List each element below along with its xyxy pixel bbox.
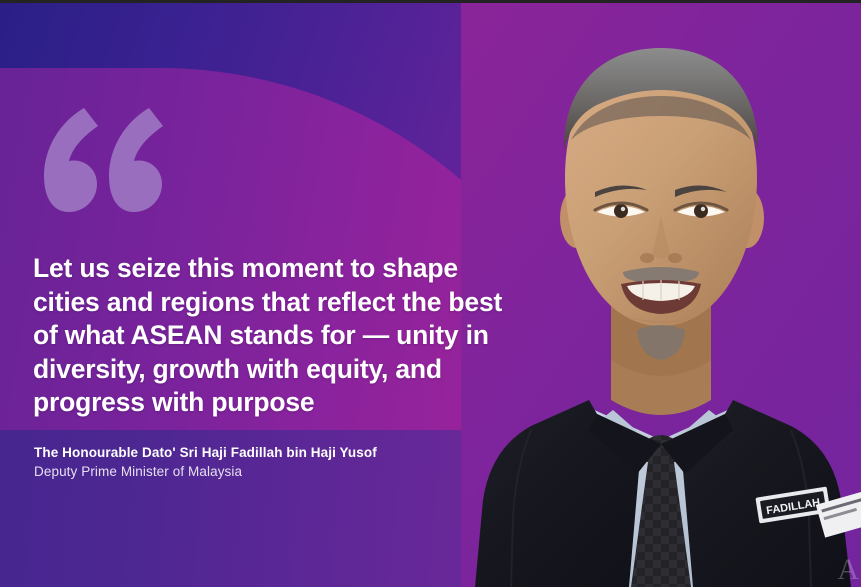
quote-text: Let us seize this moment to shape cities… xyxy=(33,252,503,420)
attribution-role: Deputy Prime Minister of Malaysia xyxy=(34,462,504,481)
portrait-of-deputy-prime-minister: FADILLAH xyxy=(461,0,861,587)
left-double-quotation-mark-icon xyxy=(38,104,168,224)
quote-block: Let us seize this moment to shape cities… xyxy=(33,252,503,420)
top-window-strip xyxy=(0,0,861,3)
corner-watermark: A xyxy=(837,555,859,585)
attribution: The Honourable Dato' Sri Haji Fadillah b… xyxy=(34,443,504,481)
attribution-name: The Honourable Dato' Sri Haji Fadillah b… xyxy=(34,443,504,462)
quote-slide: Let us seize this moment to shape cities… xyxy=(0,0,861,587)
